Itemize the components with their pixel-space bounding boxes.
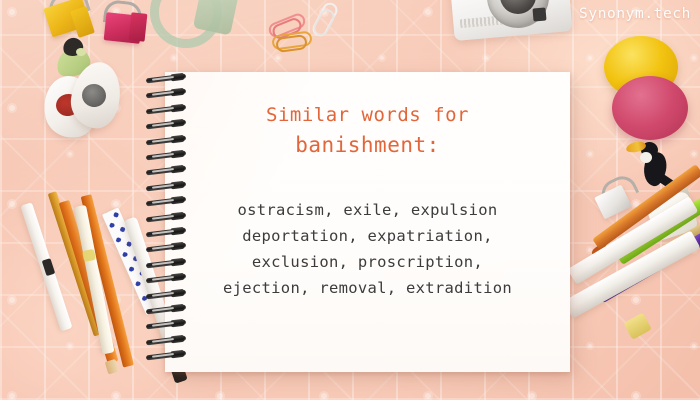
spiral-ring: [146, 274, 186, 284]
synonym-line: exclusion, proscription,: [165, 249, 570, 275]
page-title: Similar words for: [165, 100, 570, 130]
spiral-ring: [146, 335, 186, 345]
macaron-pink: [612, 76, 688, 140]
toucan-belly: [640, 152, 652, 163]
spiral-ring: [146, 89, 186, 99]
spiral-ring: [146, 104, 186, 114]
synonym-line: ostracism, exile, expulsion: [165, 197, 570, 223]
page-subject-word: banishment:: [165, 130, 570, 160]
brand-logo: Synonym.tech: [579, 6, 691, 22]
pen-cream-band: [82, 249, 96, 262]
spiral-ring: [146, 120, 186, 130]
spiral-ring: [146, 289, 186, 299]
spiral-ring: [146, 181, 186, 191]
spiral-ring: [146, 243, 186, 253]
synonym-line: ejection, removal, extradition: [165, 275, 570, 301]
synonym-line: deportation, expatriation,: [165, 223, 570, 249]
bird-eraser-beak: [76, 48, 86, 56]
camera-button: [532, 7, 546, 21]
spiral-ring: [146, 166, 186, 176]
screenshot-root: Similar words for banishment: ostracism,…: [0, 0, 700, 400]
spiral-ring: [146, 197, 186, 207]
spiral-ring: [146, 351, 186, 361]
spiral-ring: [146, 135, 186, 145]
spiral-ring: [146, 258, 186, 268]
spiral-ring: [146, 74, 186, 84]
spiral-ring: [146, 320, 186, 330]
spiral-binding: [146, 76, 190, 372]
notebook-page: Similar words for banishment: ostracism,…: [165, 72, 570, 372]
binder-clip-pink-side: [129, 12, 148, 42]
spiral-ring: [146, 151, 186, 161]
spiral-ring: [146, 305, 186, 315]
spiral-ring: [146, 228, 186, 238]
synonym-list: ostracism, exile, expulsion deportation,…: [165, 197, 570, 301]
spiral-ring: [146, 212, 186, 222]
